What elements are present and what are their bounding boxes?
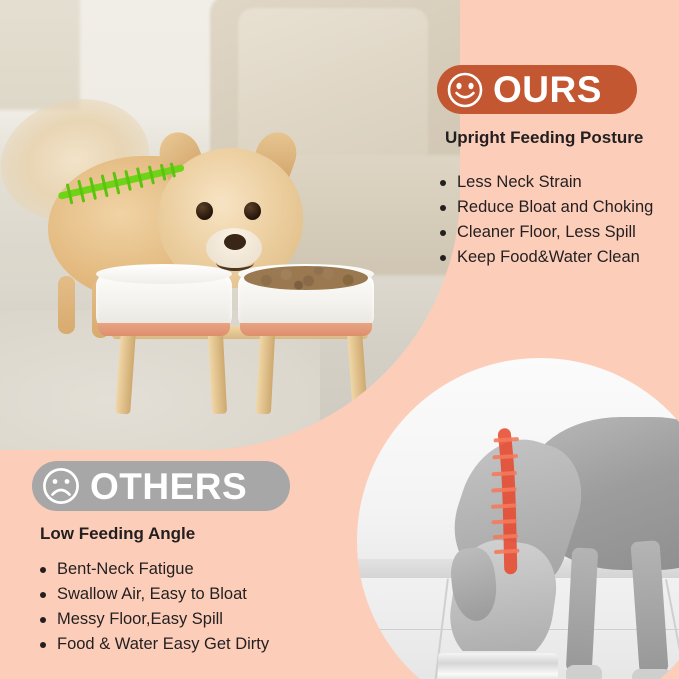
- dog-paw: [566, 665, 603, 679]
- list-item: Messy Floor,Easy Spill: [38, 607, 269, 632]
- dog-leg: [58, 276, 75, 334]
- bowl-band: [240, 323, 372, 336]
- ours-badge-label: OURS: [493, 71, 602, 108]
- sad-face-icon: [41, 466, 81, 506]
- list-item: Bent-Neck Fatigue: [38, 557, 269, 582]
- kibble-food: [244, 266, 368, 290]
- list-item: Keep Food&Water Clean: [438, 245, 653, 270]
- floor-steel-bowl: [438, 651, 559, 679]
- others-photo: [357, 358, 679, 679]
- list-item: Food & Water Easy Get Dirty: [38, 632, 269, 657]
- ours-badge: OURS: [437, 65, 637, 114]
- list-item: Reduce Bloat and Choking: [438, 195, 653, 220]
- stand-leg: [256, 332, 275, 415]
- list-item: Cleaner Floor, Less Spill: [438, 220, 653, 245]
- ours-benefit-list: Less Neck Strain Reduce Bloat and Chokin…: [438, 170, 653, 270]
- water-bowl: [96, 272, 232, 332]
- dog-eye: [196, 202, 213, 220]
- bowl-rim: [96, 264, 232, 284]
- elevated-bowl-stand: [88, 258, 388, 418]
- smiley-face-icon: [446, 71, 484, 109]
- ours-subtitle: Upright Feeding Posture: [445, 128, 643, 148]
- list-item: Less Neck Strain: [438, 170, 653, 195]
- dog-paw: [632, 669, 672, 679]
- grey-dog: [357, 358, 679, 679]
- others-badge: OTHERS: [32, 461, 290, 511]
- dog-eye: [244, 202, 261, 220]
- dog-nose: [224, 234, 246, 250]
- infographic-canvas: OURS Upright Feeding Posture Less Neck S…: [0, 0, 679, 679]
- stand-leg: [115, 332, 136, 415]
- others-subtitle: Low Feeding Angle: [40, 524, 195, 544]
- others-badge-label: OTHERS: [90, 468, 247, 505]
- bowl-band: [98, 323, 230, 336]
- stand-leg: [208, 332, 227, 415]
- dog-leg: [566, 548, 598, 674]
- others-drawback-list: Bent-Neck Fatigue Swallow Air, Easy to B…: [38, 557, 269, 657]
- list-item: Swallow Air, Easy to Bloat: [38, 582, 269, 607]
